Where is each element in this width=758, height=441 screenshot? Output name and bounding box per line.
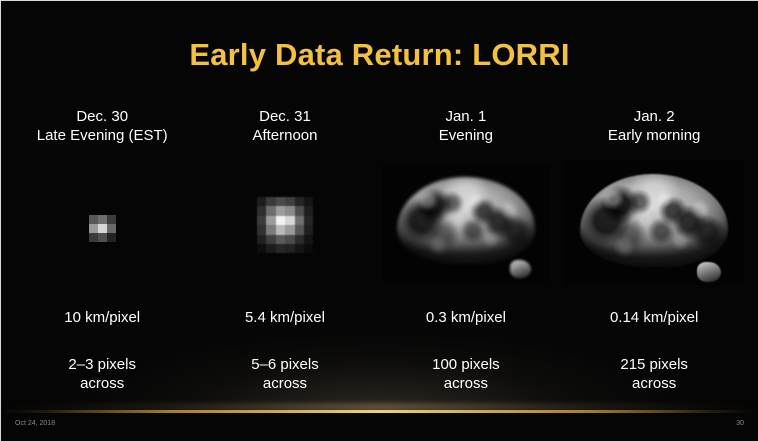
kuiper-object-body [397,177,535,264]
object-lobe [697,262,720,282]
size-value: 100 pixels [432,356,500,373]
column-jan-1: Jan. 1 Evening 0.3 km/pixel 100 pixels a… [375,107,558,397]
size-value: 2–3 pixels [68,356,136,373]
scale-label-jan-1: 0.3 km/pixel [426,309,506,335]
column-header-jan-2: Jan. 2 Early morning [608,107,701,149]
surface-texture [580,174,728,267]
column-date: Jan. 2 [634,108,675,125]
size-unit: across [432,374,500,393]
size-label-dec-31: 5–6 pixels across [251,355,319,393]
size-unit: across [68,374,136,393]
lorri-image-jan-1 [382,164,550,282]
scale-label-dec-31: 5.4 km/pixel [245,309,325,335]
slide-title: Early Data Return: LORRI [1,37,758,73]
footer-page-number: 30 [736,420,744,427]
column-time-of-day: Late Evening (EST) [37,126,168,145]
scale-label-dec-30: 10 km/pixel [64,309,140,335]
surface-texture [397,177,535,264]
column-time-of-day: Evening [439,126,493,145]
column-header-dec-31: Dec. 31 Afternoon [252,107,317,149]
size-unit: across [620,374,688,393]
lorri-image-jan-2 [564,160,744,286]
column-header-jan-1: Jan. 1 Evening [439,107,493,149]
presentation-slide: Early Data Return: LORRI Dec. 30 Late Ev… [0,0,758,441]
size-value: 215 pixels [620,356,688,373]
column-date: Dec. 31 [259,108,311,125]
column-jan-2: Jan. 2 Early morning 0.14 km/pixel 215 p… [557,107,751,397]
lorri-image-dec-30 [89,215,115,241]
size-label-jan-2: 215 pixels across [620,355,688,393]
object-lobe [510,260,532,279]
image-slot-dec-31 [195,149,374,297]
column-header-dec-30: Dec. 30 Late Evening (EST) [37,107,168,149]
column-time-of-day: Early morning [608,126,701,145]
image-comparison-grid: Dec. 30 Late Evening (EST) 10 km/pixel [9,107,751,397]
size-value: 5–6 pixels [251,356,319,373]
image-slot-dec-30 [9,149,195,297]
column-date: Jan. 1 [445,108,486,125]
column-dec-31: Dec. 31 Afternoon [195,107,374,397]
size-label-jan-1: 100 pixels across [432,355,500,393]
column-time-of-day: Afternoon [252,126,317,145]
kuiper-object-body [580,174,728,267]
size-label-dec-30: 2–3 pixels across [68,355,136,393]
column-date: Dec. 30 [76,108,128,125]
size-unit: across [251,374,319,393]
image-slot-jan-2 [557,149,751,297]
footer-date: Oct 24, 2018 [15,420,55,427]
column-dec-30: Dec. 30 Late Evening (EST) 10 km/pixel [9,107,195,397]
image-slot-jan-1 [375,149,558,297]
accent-divider-line [1,410,758,413]
lorri-image-dec-31 [257,197,313,253]
scale-label-jan-2: 0.14 km/pixel [610,309,698,335]
